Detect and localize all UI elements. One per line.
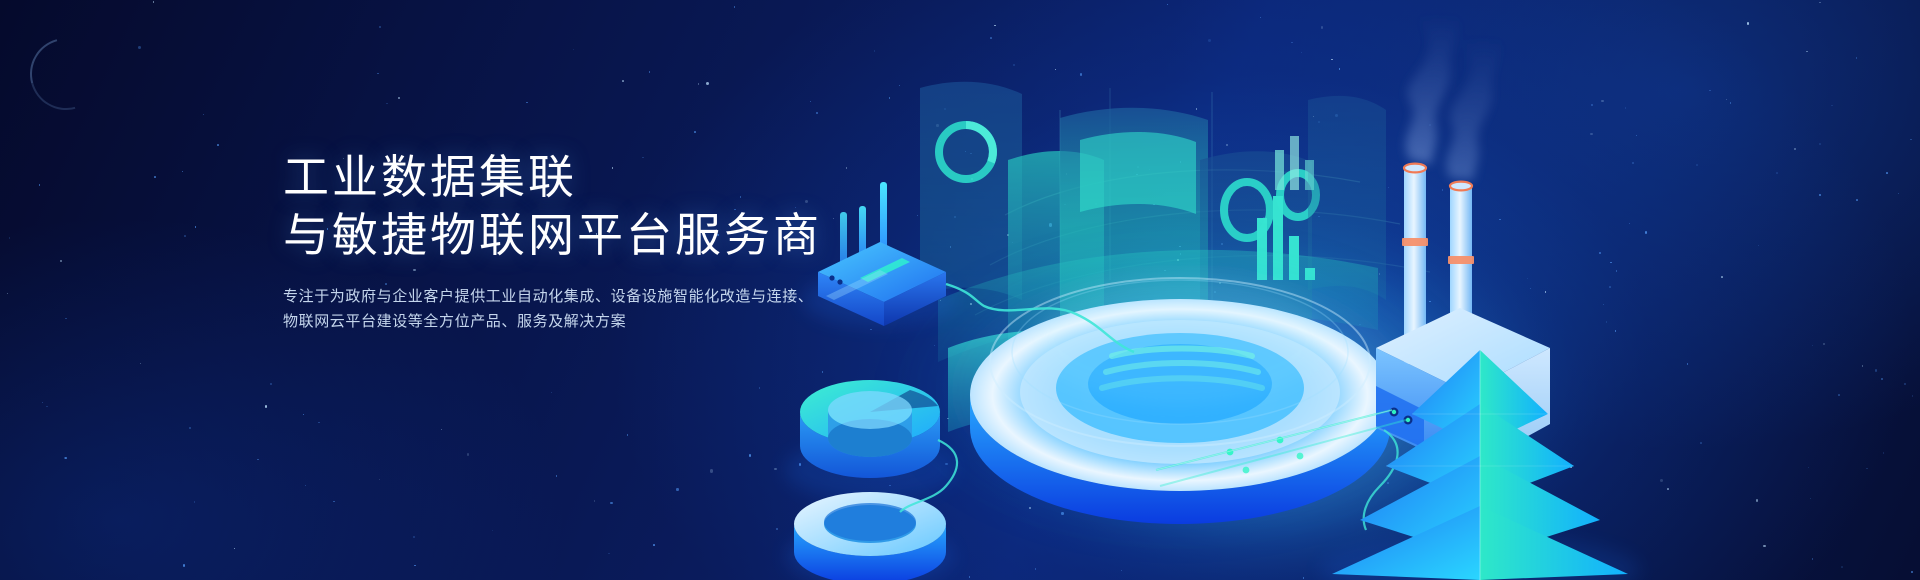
star-dot	[649, 71, 651, 73]
star-dot	[60, 260, 62, 262]
donut-chart-cylinder	[784, 380, 956, 500]
star-dot	[195, 226, 197, 228]
star-dot	[46, 406, 48, 408]
star-dot	[65, 318, 67, 320]
star-dot	[594, 500, 596, 502]
star-dot	[9, 237, 11, 239]
star-dot	[7, 293, 9, 295]
star-dot	[138, 46, 141, 49]
headline-line-2: 与敏捷物联网平台服务商	[283, 210, 822, 260]
star-dot	[265, 405, 267, 407]
star-dot	[526, 102, 528, 104]
star-dot	[379, 479, 381, 481]
star-dot	[551, 392, 553, 394]
star-dot	[734, 6, 736, 8]
star-dot	[42, 402, 44, 404]
star-dot	[379, 26, 381, 28]
star-dot	[234, 548, 236, 550]
star-dot	[39, 184, 41, 186]
star-dot	[386, 103, 388, 105]
star-dot	[556, 475, 558, 477]
panel-center-highlight	[1080, 132, 1196, 214]
star-dot	[203, 114, 205, 116]
star-dot	[694, 131, 696, 133]
star-dot	[413, 536, 415, 538]
star-dot	[414, 565, 416, 567]
star-dot	[318, 422, 320, 424]
star-dot	[622, 80, 624, 82]
hero-illustration	[760, 0, 1920, 580]
star-dot	[333, 501, 335, 503]
star-dot	[183, 564, 185, 566]
star-dot	[467, 453, 469, 455]
star-dot	[154, 176, 156, 178]
headline-line-1: 工业数据集联	[283, 152, 822, 202]
subtitle-line-1: 专注于为政府与企业客户提供工业自动化集成、设备设施智能化改造与连接、	[283, 284, 822, 309]
router-led-1	[829, 275, 834, 280]
star-dot	[710, 469, 713, 472]
hero-banner: 工业数据集联 与敏捷物联网平台服务商 专注于为政府与企业客户提供工业自动化集成、…	[0, 0, 1920, 580]
star-dot	[653, 544, 655, 546]
hero-copy: 工业数据集联 与敏捷物联网平台服务商 专注于为政府与企业客户提供工业自动化集成、…	[283, 152, 822, 334]
star-dot	[189, 427, 191, 429]
star-dot	[153, 1, 155, 3]
star-dot	[377, 73, 379, 75]
star-dot	[627, 434, 629, 436]
chimney-left-band	[1402, 238, 1428, 246]
star-dot	[182, 171, 184, 173]
star-dot	[441, 429, 443, 431]
star-dot	[257, 459, 259, 461]
star-dot	[706, 82, 709, 85]
star-dot	[194, 501, 196, 503]
subtitle-line-2: 物联网云平台建设等全方位产品、服务及解决方案	[283, 309, 822, 334]
star-dot	[303, 414, 305, 416]
chimney-right-band	[1448, 256, 1474, 264]
star-dot	[140, 363, 142, 365]
star-dot	[608, 553, 610, 555]
star-dot	[492, 530, 494, 532]
router-led-2	[837, 279, 842, 284]
star-dot	[573, 49, 575, 51]
star-dot	[676, 488, 678, 490]
hero-subtitle: 专注于为政府与企业客户提供工业自动化集成、设备设施智能化改造与连接、 物联网云平…	[283, 284, 822, 334]
star-dot	[184, 235, 186, 237]
star-dot	[749, 454, 751, 456]
star-dot	[217, 144, 219, 146]
ring-base-pedestal	[786, 492, 954, 580]
smoke-plume-a	[1406, 14, 1460, 164]
star-dot	[698, 83, 700, 85]
star-dot	[610, 502, 612, 504]
smoke-plume-b	[1446, 36, 1502, 180]
star-dot	[305, 485, 307, 487]
star-dot	[270, 383, 272, 385]
star-dot	[398, 97, 400, 99]
